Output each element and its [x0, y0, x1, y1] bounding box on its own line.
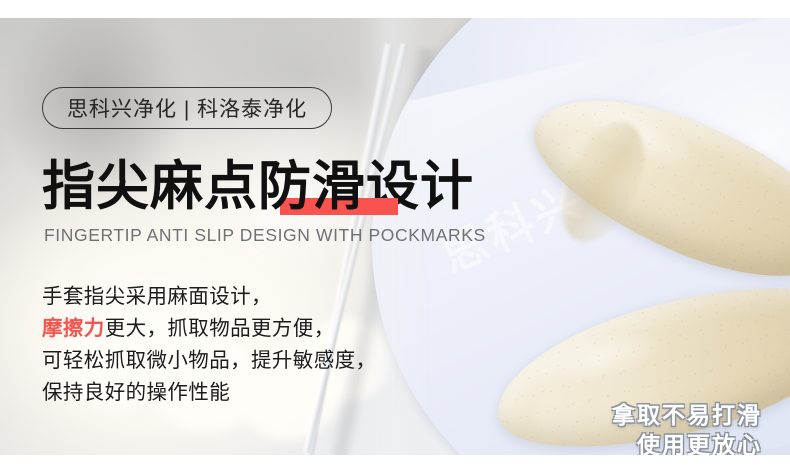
- body-line-text: 手套指尖采用麻面设计，: [42, 285, 272, 308]
- body-line: 手套指尖采用麻面设计，: [42, 281, 376, 313]
- body-line-text: 可轻松抓取微小物品，提升敏感度，: [42, 349, 376, 372]
- body-line-text: 更大，抓取物品更方便，: [105, 317, 335, 340]
- brand-badge-label: 思科兴净化 | 科洛泰净化: [67, 93, 307, 123]
- body-line: 保持良好的操作性能: [42, 377, 376, 409]
- brand-badge: 思科兴净化 | 科洛泰净化: [42, 87, 332, 129]
- body-line: 摩擦力更大，抓取物品更方便，: [42, 313, 376, 345]
- kicker-line-2: 使用更放心: [612, 430, 762, 455]
- headline-block: 指尖麻点防滑设计: [42, 160, 474, 213]
- subtitle-english: FINGERTIP ANTI SLIP DESIGN WITH POCKMARK…: [44, 225, 486, 246]
- bottom-white-margin: [0, 455, 790, 473]
- body-line-text: 保持良好的操作性能: [42, 381, 230, 404]
- product-banner: 思科兴 思科兴净化 | 科洛泰净化 指尖麻点防滑设计 FINGERTIP ANT…: [0, 0, 790, 473]
- kicker-callout: 拿取不易打滑 使用更放心: [612, 400, 762, 455]
- headline-part-before: 指尖麻点: [42, 157, 258, 216]
- kicker-line-1: 拿取不易打滑: [612, 400, 762, 430]
- banner-canvas: 思科兴 思科兴净化 | 科洛泰净化 指尖麻点防滑设计 FINGERTIP ANT…: [0, 18, 790, 455]
- body-line: 可轻松抓取微小物品，提升敏感度，: [42, 345, 376, 377]
- page-title: 指尖麻点防滑设计: [42, 160, 474, 213]
- body-accent-term: 摩擦力: [42, 317, 105, 340]
- headline-part-highlighted: 防滑: [258, 160, 366, 213]
- body-copy: 手套指尖采用麻面设计， 摩擦力更大，抓取物品更方便， 可轻松抓取微小物品，提升敏…: [42, 281, 376, 409]
- top-white-margin: [0, 0, 790, 18]
